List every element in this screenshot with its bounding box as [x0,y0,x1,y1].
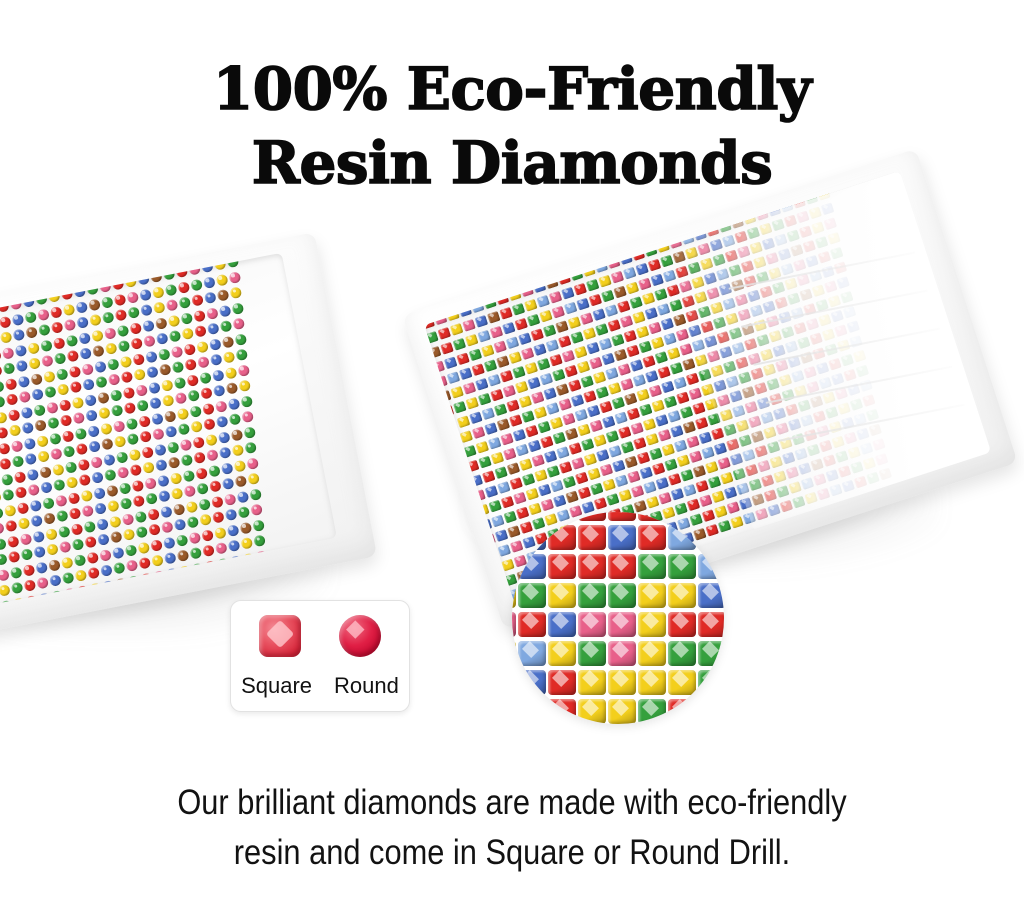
tray-well [0,253,337,617]
drill-square [583,390,597,403]
drill-round [150,539,163,552]
drill-square [606,493,620,506]
drill-round [215,273,228,286]
magnified-square-drill-inset [512,512,724,724]
drill-square [619,252,633,265]
drill-square [494,466,508,479]
drill-round [24,452,37,465]
drill-square [470,600,484,606]
drill-square [512,429,526,442]
drill-square [645,433,659,446]
magnified-drill-row [512,612,724,637]
drill-round [30,373,43,386]
drill-square [437,327,451,340]
drill-square [435,438,449,451]
drill-square [698,432,712,445]
drill-round [13,470,26,483]
drill-square [562,476,576,489]
drill-round [193,451,206,464]
magnified-drill [668,554,696,579]
drill-round [120,371,133,384]
drill-square [578,486,592,499]
drill-square [683,484,697,497]
drill-round [57,383,70,396]
drill-round [250,503,263,516]
drill-square [527,377,541,390]
drill-round [78,332,91,345]
drill-round [18,390,31,403]
magnified-drill [548,670,576,695]
drill-square [648,385,662,398]
drill-square [493,403,507,416]
drill-shape-legend[interactable]: Square Round [230,600,410,712]
drill-square [424,335,426,348]
magnified-drill [698,699,724,724]
drill-round [86,551,99,564]
drill-square [438,453,452,466]
drill-round [0,457,12,470]
drill-round [96,391,109,404]
drill-round [165,567,178,580]
drill-round [115,451,128,464]
drill-square [695,417,709,430]
drill-round [158,490,171,503]
drill-square [468,349,482,362]
drill-square [541,498,555,511]
drill-round [50,590,63,603]
drill-square [673,440,687,453]
drill-square [679,406,693,419]
drill-square [520,284,534,297]
drill-square [632,311,646,324]
magnified-drill [608,612,636,637]
drill-square [570,331,584,344]
drill-square [478,456,492,469]
drill-round [218,573,231,586]
drill-round [7,408,20,421]
magnified-drill [518,612,546,637]
drill-square [630,422,644,435]
drill-round [100,564,113,577]
drill-round [84,536,97,549]
drill-round [11,313,24,326]
drill-round [63,445,76,458]
drill-square [571,457,585,470]
drill-square [454,464,468,477]
drill-square [593,497,607,510]
drill-round [249,488,262,501]
drill-square [636,389,650,402]
magnified-drill [668,612,696,637]
drill-round [237,364,250,377]
drill-round [233,459,246,472]
drill-round [117,340,130,353]
drill-square [727,501,741,514]
drill-square [577,423,591,436]
drill-square [658,429,672,442]
drill-round [93,360,106,373]
drill-round [80,489,93,502]
magnified-drill [638,583,666,608]
drill-round [91,471,104,484]
drill-square [574,472,588,485]
drill-square [485,548,499,561]
magnified-drill [548,554,576,579]
drill-square [590,482,604,495]
drill-square [444,482,458,495]
drill-round [22,295,35,308]
drill-square [650,274,664,287]
drill-round [109,389,122,402]
drill-round [166,299,179,312]
drill-round [0,315,11,328]
drill-round [202,544,215,557]
drill-square [508,288,522,301]
drill-round [85,409,98,422]
drill-square [670,362,684,375]
drill-square [629,296,643,309]
drill-square [654,351,668,364]
drill-square [599,464,613,477]
drill-round [59,541,72,554]
drill-round [122,386,135,399]
drill-round [65,603,78,616]
drill-square [636,452,650,465]
drill-square [556,446,570,459]
drill-square [627,470,641,483]
drill-round [196,340,209,353]
drill-round [220,462,233,475]
drill-round [16,501,29,514]
drill-square [651,399,665,412]
drill-round [244,441,257,454]
drill-round [46,543,59,556]
drill-square [553,494,567,507]
drill-square [638,278,652,291]
drill-round [210,353,223,366]
drill-square [509,477,523,490]
drill-square [431,361,445,374]
drill-round [106,358,119,371]
drill-square [550,480,564,493]
magnified-drill [608,525,636,550]
drill-round [159,363,172,376]
drill-square [518,395,532,408]
drill-round [171,487,184,500]
drill-round [141,588,154,601]
drill-round [62,572,75,585]
drill-square [639,340,653,353]
drill-square [488,500,502,513]
drill-round [0,395,6,408]
drill-square [478,393,492,406]
drill-square [444,419,458,432]
drill-square [677,454,691,467]
magnified-drill [578,512,606,521]
drill-square [645,370,659,383]
drill-round [212,511,225,524]
drill-round [67,492,80,505]
drill-square [629,359,643,372]
drill-square [561,350,575,363]
drill-square [524,362,538,375]
magnified-drill [608,583,636,608]
drill-square [595,323,609,336]
magnified-drill-row [512,699,724,724]
drill-round [40,481,53,494]
drill-round [252,519,265,532]
drill-round [45,401,58,414]
drill-square [699,494,713,507]
magnified-drill [698,583,724,608]
drill-square [558,335,572,348]
magnified-drill [512,512,516,521]
magnified-drill [578,641,606,666]
drill-round [27,342,40,355]
drill-round [224,366,237,379]
drill-square [453,338,467,351]
drill-square [515,381,529,394]
drill-round [114,435,127,448]
drill-round [55,368,68,381]
drill-round [240,537,253,550]
drill-round [26,468,39,481]
magnified-drill-rows [512,512,724,724]
drill-square [649,448,663,461]
drill-round [14,612,27,617]
drill-square [549,417,563,430]
drill-round [112,278,125,291]
drill-round [225,508,238,521]
magnified-drill [608,670,636,695]
drill-square [670,425,684,438]
magnified-drill [518,641,546,666]
drill-round [241,410,254,423]
drill-round [199,371,212,384]
drill-round [0,537,6,550]
drill-square [596,386,610,399]
drill-round [117,466,130,479]
drill-square [536,295,550,308]
drill-round [99,422,112,435]
drill-round [135,384,148,397]
drill-round [204,291,217,304]
magnified-drill [638,699,666,724]
drill-square [482,533,496,546]
drill-square [524,299,538,312]
drill-round [10,439,23,452]
drill-round [141,446,154,459]
drill-square [543,450,557,463]
drill-round [69,507,82,520]
drill-round [76,316,89,329]
drill-round [214,258,227,271]
drill-round [17,375,30,388]
drill-square [654,288,668,301]
drill-round [28,357,41,370]
drill-round [217,431,230,444]
drill-square [573,283,587,296]
drill-round [196,482,209,495]
drill-square [479,519,493,532]
drill-round [19,532,32,545]
drill-round [60,414,73,427]
drill-square [514,318,528,331]
legend-label-square: Square [241,673,312,699]
drill-square [467,586,481,599]
drill-round [0,553,8,566]
drill-square [487,311,501,324]
drill-round [0,300,10,313]
drill-square [424,350,429,363]
drill-round [65,334,78,347]
drill-square [584,453,598,466]
drill-round [175,534,188,547]
drill-round [177,423,190,436]
drill-round [8,550,21,563]
drill-square [546,402,560,415]
drill-square [527,314,541,327]
drill-round [17,517,30,530]
drill-round [114,577,127,590]
drill-round [44,386,57,399]
drill-round [162,536,175,549]
drill-square [536,358,550,371]
drill-square [469,474,483,487]
drill-round [207,464,220,477]
drill-square [472,426,486,439]
drill-round [236,490,249,503]
drill-round [39,466,52,479]
drill-round [3,362,16,375]
drill-round [72,538,85,551]
drill-round [226,382,239,395]
drill-square [491,452,505,465]
drill-square [463,445,477,458]
drill-square [598,338,612,351]
drill-square [592,371,606,384]
drill-square [492,577,506,590]
drill-square [457,541,471,554]
drill-round [167,583,180,596]
drill-square [610,271,624,284]
drill-square [515,444,529,457]
drill-square [627,407,641,420]
drill-square [614,349,628,362]
drill-round [50,448,63,461]
drill-round [153,570,166,583]
magnified-drill [548,699,576,724]
drill-round [24,310,37,323]
drill-round [197,356,210,369]
drill-round [228,271,241,284]
drill-round [184,358,197,371]
drill-round [78,474,91,487]
drill-round [165,425,178,438]
drill-square [590,419,604,432]
drill-round [74,569,87,582]
drill-round [230,428,243,441]
drill-square [723,486,737,499]
drill-round [182,469,195,482]
drill-round [90,456,103,469]
drill-round [83,520,96,533]
magnified-drill [638,670,666,695]
drill-round [34,419,47,432]
drill-round [214,400,227,413]
drill-round [147,381,160,394]
drill-round [1,615,14,617]
drill-round [229,555,242,568]
drill-square [506,462,520,475]
drill-round [189,405,202,418]
drill-square [424,316,435,329]
drill-round [231,444,244,457]
drill-square [497,418,511,431]
drill-round [150,270,163,283]
magnified-drill [698,641,724,666]
drill-square [449,323,463,336]
drill-square [633,437,647,450]
drill-square [496,355,510,368]
drill-square [602,478,616,491]
drill-round [211,369,224,382]
drill-round [0,426,9,439]
drill-round [206,449,219,462]
drill-square [633,374,647,387]
drill-round [89,314,102,327]
drill-round [219,446,232,459]
drill-round [84,394,97,407]
drill-round [79,347,92,360]
drill-round [69,381,82,394]
drill-square [434,312,448,325]
drill-square [424,365,432,378]
drill-round [216,557,229,570]
drill-square [425,331,439,344]
drill-round [246,457,259,470]
drill-round [128,590,141,603]
drill-round [32,530,45,543]
drill-round [108,515,121,528]
drill-square [424,379,435,392]
drill-round [0,380,4,393]
drill-round [70,523,83,536]
drill-round [2,488,15,501]
drill-round [81,363,94,376]
drill-round [116,593,129,606]
drill-round [25,594,38,607]
drill-square [546,339,560,352]
magnified-drill [548,641,576,666]
drill-square [661,444,675,457]
drill-square [683,421,697,434]
magnified-drill [578,670,606,695]
drill-square [464,571,478,584]
drill-round [6,393,19,406]
drill-square [574,409,588,422]
drill-round [144,350,157,363]
drill-square [611,397,625,410]
drill-square [626,282,640,295]
drill-round [100,296,113,309]
drill-round [119,355,132,368]
drill-square [587,468,601,481]
drill-square [689,450,703,463]
drill-round [39,339,52,352]
drill-round [121,513,134,526]
caption-line-2: resin and come in Square or Round Drill. [61,828,962,878]
